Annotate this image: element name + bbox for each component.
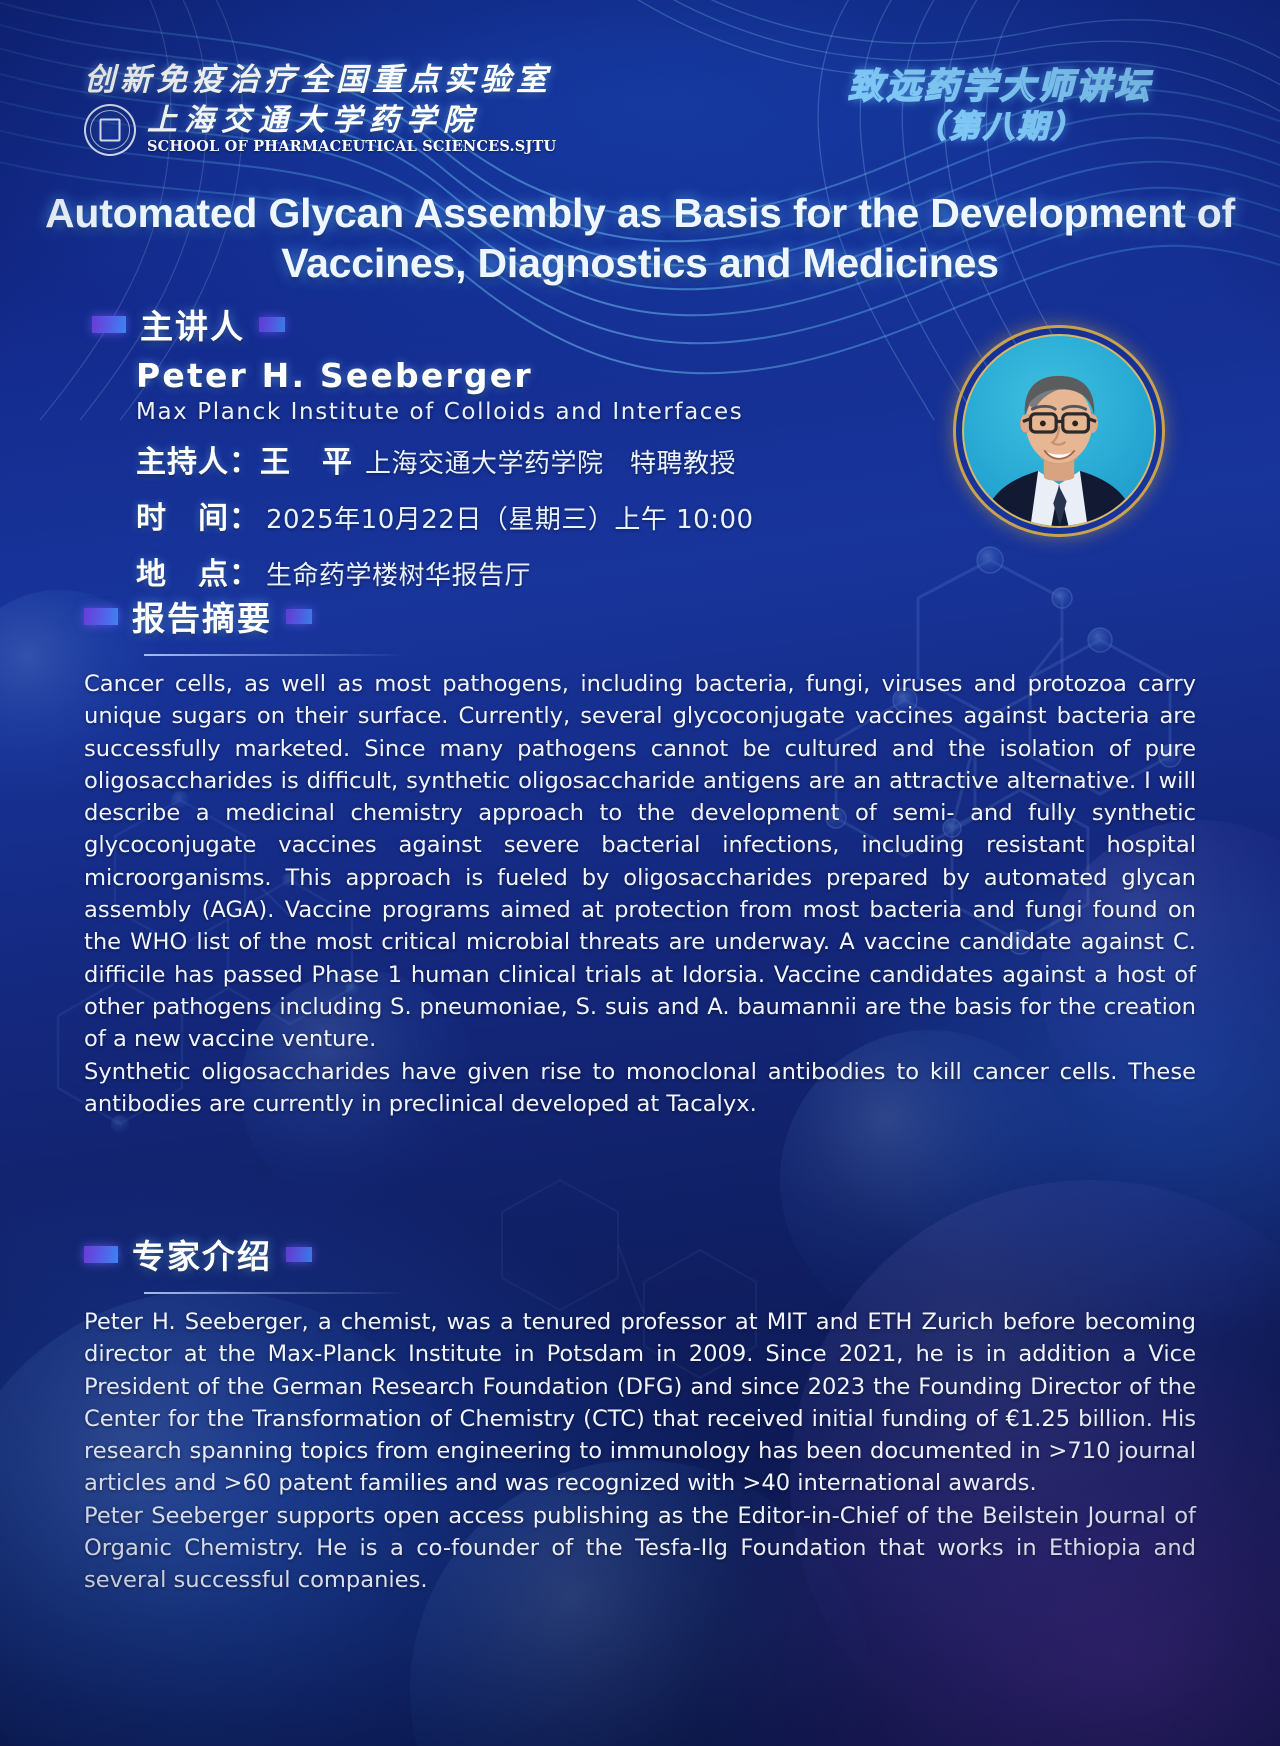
bio-body: Peter H. Seeberger, a chemist, was a ten… (84, 1306, 1196, 1597)
abstract-paragraph: Synthetic oligosaccharides have given ri… (84, 1056, 1196, 1121)
abstract-section-label: 报告摘要 (84, 592, 1196, 640)
bio-section: 专家介绍 Peter H. Seeberger, a chemist, was … (84, 1230, 1196, 1597)
time-row: 时 间： 2025年10月22日（星期三）上午 10:00 (136, 493, 832, 537)
place-value: 生命药学楼树华报告厅 (266, 555, 531, 592)
label-block-right-icon (286, 609, 312, 624)
speaker-name: Peter H. Seeberger (136, 356, 832, 395)
host-row: 主持人： 王 平 上海交通大学药学院 特聘教授 (136, 437, 832, 481)
lab-name: 创新免疫治疗全国重点实验室 (84, 54, 552, 99)
time-label: 时 间： (136, 493, 260, 537)
host-name: 王 平 (260, 437, 353, 481)
page-title: Automated Glycan Assembly as Basis for t… (40, 188, 1240, 288)
bio-section-label: 专家介绍 (84, 1230, 1196, 1278)
abstract-section: 报告摘要 Cancer cells, as well as most patho… (84, 592, 1196, 1120)
place-label: 地 点： (136, 549, 260, 593)
time-value: 2025年10月22日（星期三）上午 10:00 (266, 499, 754, 536)
forum-branding: 致远药学大师讲坛 （第八期） (848, 66, 1152, 146)
speaker-block: 主讲人 Peter H. Seeberger Max Planck Instit… (92, 300, 832, 593)
portrait-illustration (964, 336, 1154, 526)
bio-paragraph: Peter H. Seeberger, a chemist, was a ten… (84, 1306, 1196, 1500)
bio-divider (144, 1292, 404, 1294)
host-label: 主持人： (136, 437, 260, 481)
school-name-cn: 上海交通大学药学院 (147, 105, 556, 137)
speaker-affiliation: Max Planck Institute of Colloids and Int… (136, 399, 832, 425)
abstract-divider (144, 654, 404, 656)
label-block-left-icon (84, 608, 118, 625)
bio-paragraph: Peter Seeberger supports open access pub… (84, 1500, 1196, 1597)
place-row: 地 点： 生命药学楼树华报告厅 (136, 549, 832, 593)
abstract-label-text: 报告摘要 (132, 592, 272, 640)
speaker-portrait (953, 325, 1165, 537)
label-block-right-icon (286, 1247, 312, 1262)
forum-issue: （第八期） (848, 109, 1152, 146)
school-identity: 上海交通大学药学院 SCHOOL OF PHARMACEUTICAL SCIEN… (84, 104, 556, 156)
speaker-label-text: 主讲人 (140, 300, 245, 348)
bio-label-text: 专家介绍 (132, 1230, 272, 1278)
school-name-en: SCHOOL OF PHARMACEUTICAL SCIENCES.SJTU (147, 138, 556, 155)
label-block-right-icon (259, 317, 285, 332)
label-block-left-icon (84, 1246, 118, 1263)
portrait-photo (962, 334, 1156, 528)
label-block-left-icon (92, 316, 126, 333)
forum-title: 致远药学大师讲坛 (848, 66, 1152, 107)
speaker-section-label: 主讲人 (92, 300, 832, 348)
poster-root: 创新免疫治疗全国重点实验室 上海交通大学药学院 SCHOOL OF PHARMA… (0, 0, 1280, 1746)
abstract-paragraph: Cancer cells, as well as most pathogens,… (84, 668, 1196, 1056)
host-affiliation: 上海交通大学药学院 特聘教授 (365, 443, 736, 480)
abstract-body: Cancer cells, as well as most pathogens,… (84, 668, 1196, 1120)
sjtu-seal-icon (84, 104, 136, 156)
poster-header: 创新免疫治疗全国重点实验室 上海交通大学药学院 SCHOOL OF PHARMA… (0, 0, 1280, 180)
